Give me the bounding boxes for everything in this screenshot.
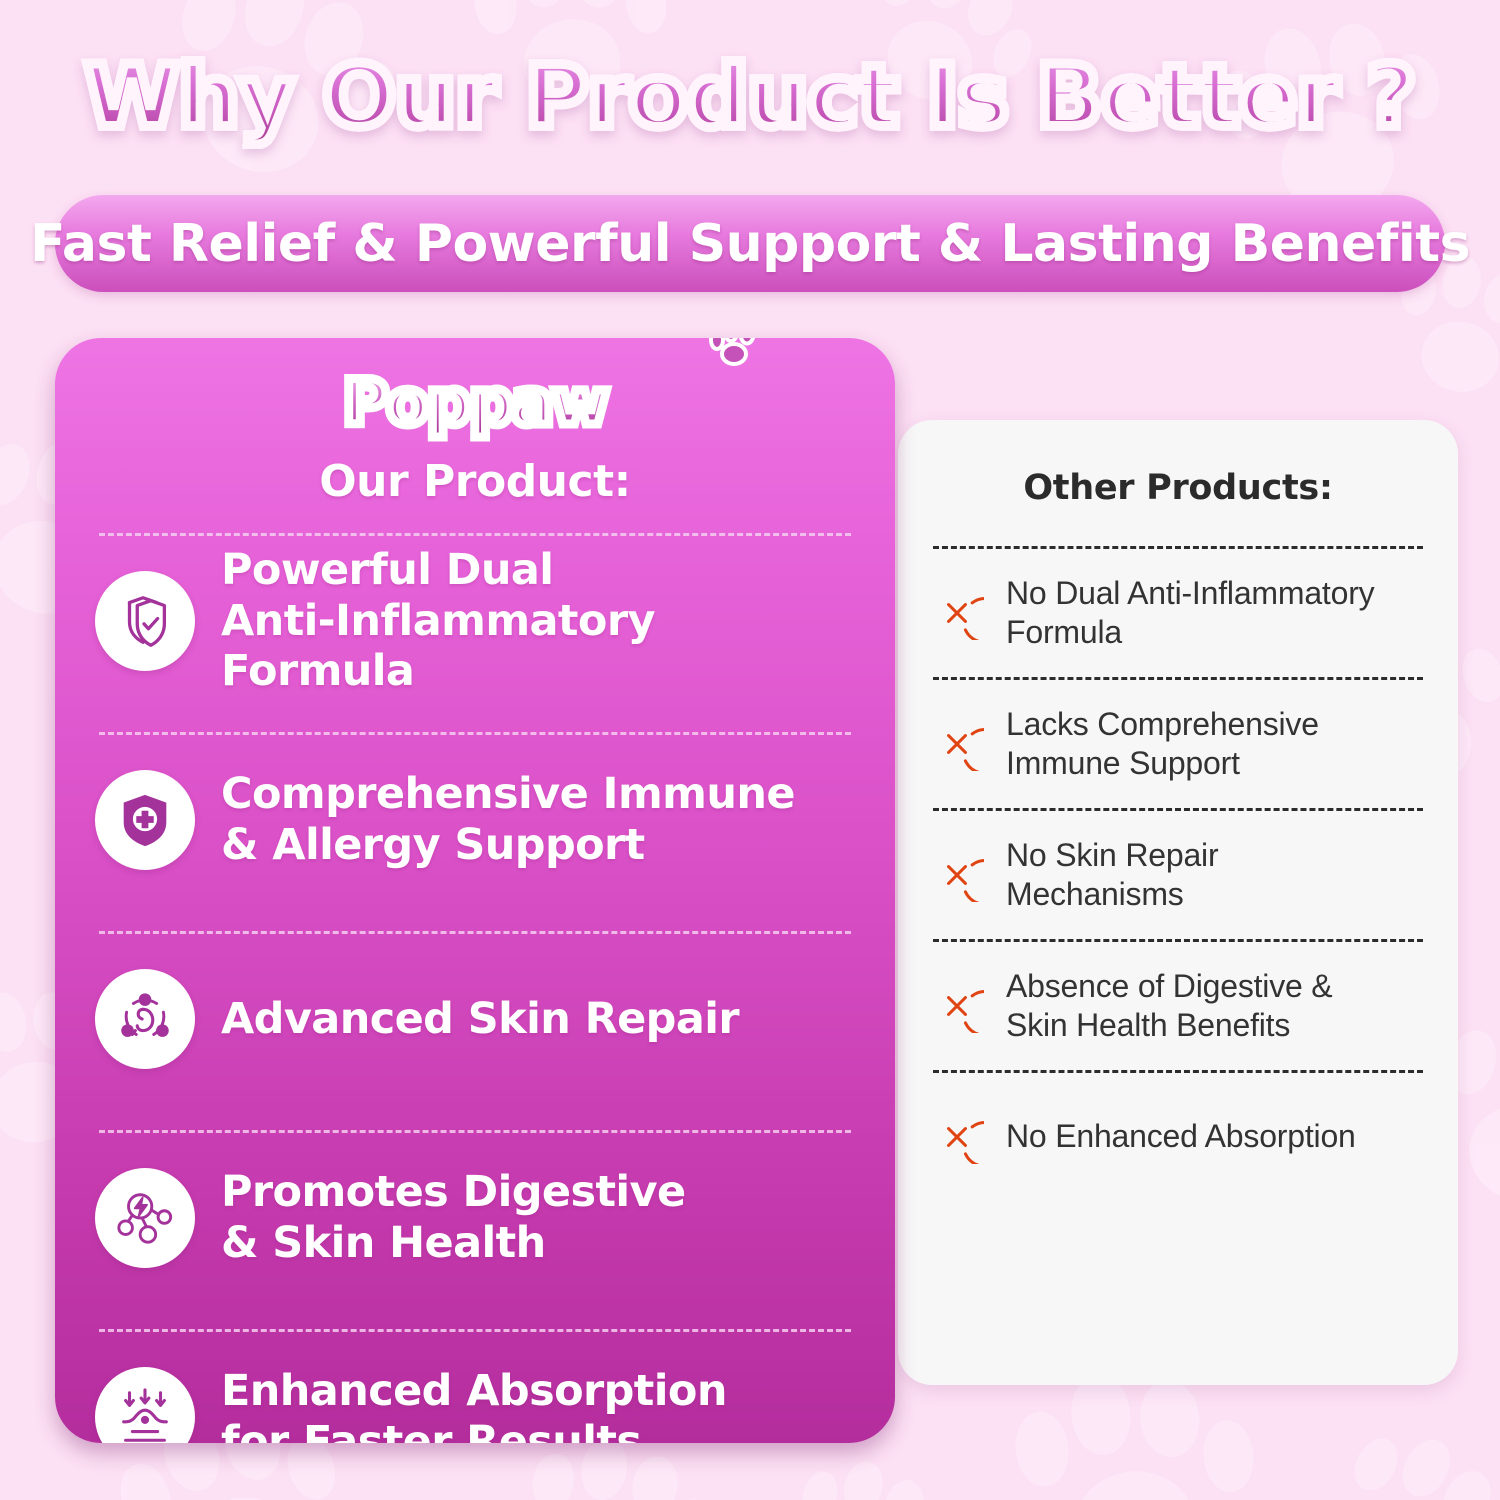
our-product-item: Comprehensive Immune& Allergy Support — [95, 735, 855, 905]
our-product-item-label: Powerful DualAnti-Inflammatory Formula — [221, 545, 855, 697]
our-product-item: Powerful DualAnti-Inflammatory Formula — [95, 536, 855, 706]
shield-check-icon — [95, 571, 195, 671]
shield-medical-icon — [95, 770, 195, 870]
our-product-item-label: Promotes Digestive& Skin Health — [221, 1167, 686, 1268]
our-product-divider — [99, 1130, 851, 1133]
brand-logo-text: Poppaw — [343, 372, 607, 434]
subtitle-banner: Fast Relief & Powerful Support & Lasting… — [55, 195, 1445, 292]
our-product-card: Poppaw Our Product: Powerful DualAnti-In… — [55, 338, 895, 1443]
network-lightning-icon — [95, 1168, 195, 1268]
our-product-item-label: Enhanced Absorptionfor Faster Results — [221, 1366, 727, 1443]
circle-x-icon — [930, 848, 984, 902]
molecule-stomach-icon — [95, 969, 195, 1069]
our-product-divider — [99, 931, 851, 934]
other-products-item-label: No Skin RepairMechanisms — [1006, 836, 1218, 914]
page-title: Why Our Product Is Better ? — [0, 52, 1500, 143]
other-products-item-label: No Enhanced Absorption — [1006, 1117, 1356, 1156]
our-product-divider — [99, 732, 851, 735]
other-products-list: No Dual Anti-InflammatoryFormula Lacks C… — [930, 546, 1426, 1201]
other-products-item: No Skin RepairMechanisms — [930, 811, 1426, 939]
our-product-divider — [99, 533, 851, 536]
other-products-item: Lacks ComprehensiveImmune Support — [930, 680, 1426, 808]
our-product-divider — [99, 1329, 851, 1332]
our-product-item: Enhanced Absorptionfor Faster Results — [95, 1332, 855, 1443]
circle-x-icon — [930, 979, 984, 1033]
our-product-item: Promotes Digestive& Skin Health — [95, 1133, 855, 1303]
other-products-item: Absence of Digestive &Skin Health Benefi… — [930, 942, 1426, 1070]
our-product-title: Our Product: — [95, 456, 855, 507]
absorption-arrows-icon — [95, 1367, 195, 1443]
other-products-title: Other Products: — [930, 468, 1426, 508]
our-product-item-label: Comprehensive Immune& Allergy Support — [221, 769, 795, 870]
other-products-item: No Enhanced Absorption — [930, 1073, 1426, 1201]
other-products-item-label: Lacks ComprehensiveImmune Support — [1006, 705, 1319, 783]
our-product-item-label: Advanced Skin Repair — [221, 994, 739, 1045]
other-products-item-label: Absence of Digestive &Skin Health Benefi… — [1006, 967, 1332, 1045]
circle-x-icon — [930, 1110, 984, 1164]
other-products-item: No Dual Anti-InflammatoryFormula — [930, 549, 1426, 677]
our-product-item: Advanced Skin Repair — [95, 934, 855, 1104]
other-products-item-label: No Dual Anti-InflammatoryFormula — [1006, 574, 1374, 652]
page-title-text: Why Our Product Is Better ? — [85, 52, 1416, 143]
our-product-list: Powerful DualAnti-Inflammatory Formula C… — [95, 533, 855, 1443]
other-products-card: Other Products: No Dual Anti-Inflammator… — [898, 420, 1458, 1385]
brand-logo: Poppaw — [95, 338, 855, 434]
paw-print-icon — [707, 338, 763, 366]
subtitle-text: Fast Relief & Powerful Support & Lasting… — [30, 214, 1470, 274]
circle-x-icon — [930, 586, 984, 640]
circle-x-icon — [930, 717, 984, 771]
